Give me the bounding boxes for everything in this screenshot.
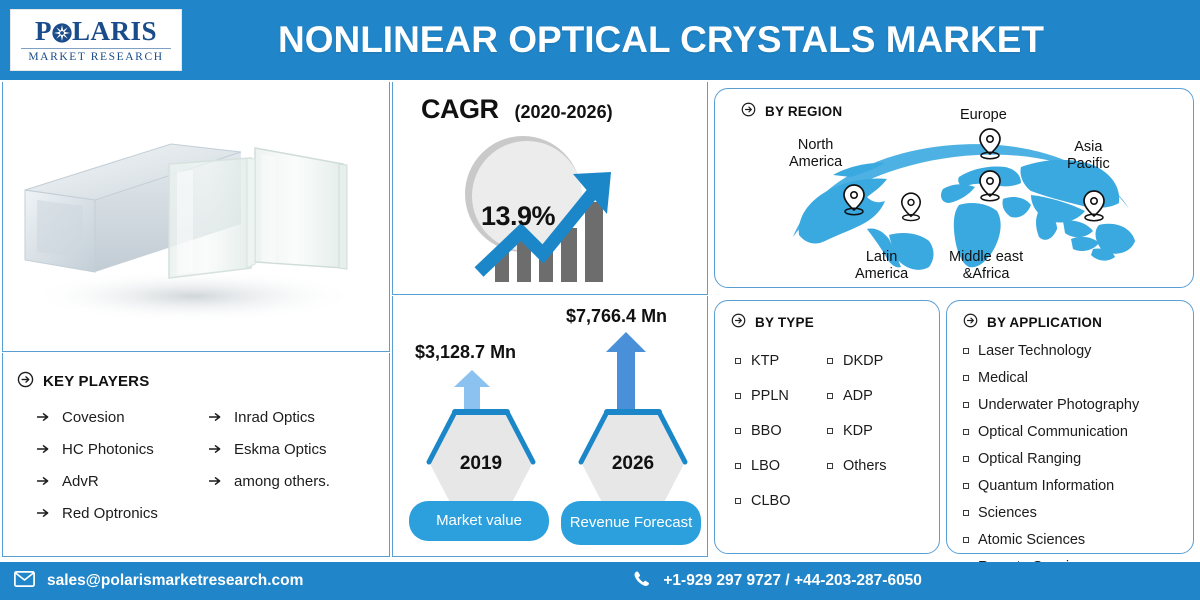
list-item-label: Inrad Optics bbox=[234, 409, 315, 426]
list-item-label: Sciences bbox=[978, 505, 1037, 521]
list-item-label: Optical Ranging bbox=[978, 451, 1081, 467]
list-item[interactable]: Underwater Photography bbox=[963, 391, 1191, 418]
by-application-heading: BY APPLICATION bbox=[963, 313, 1102, 331]
list-item[interactable]: PPLN bbox=[735, 378, 823, 413]
region-label-asia-pacific: Asia Pacific bbox=[1067, 139, 1110, 172]
region-label-line: America bbox=[789, 154, 842, 170]
square-bullet-icon bbox=[827, 358, 833, 364]
square-bullet-icon bbox=[963, 456, 969, 462]
list-item-label: LBO bbox=[751, 458, 780, 474]
region-label-line: Pacific bbox=[1067, 156, 1110, 172]
page-header: P bbox=[0, 0, 1200, 80]
by-application-panel: BY APPLICATION Laser Technology Medical … bbox=[946, 300, 1194, 554]
arrow-right-icon bbox=[209, 409, 222, 426]
list-item-label: Optical Communication bbox=[978, 424, 1128, 440]
circle-arrow-icon bbox=[17, 371, 34, 392]
cagr-heading: CAGR (2020-2026) bbox=[421, 94, 613, 125]
list-item[interactable]: CLBO bbox=[735, 483, 823, 518]
region-label-line: Middle east bbox=[949, 249, 1023, 265]
list-item-label: Medical bbox=[978, 370, 1028, 386]
list-item[interactable]: HC Photonics bbox=[37, 433, 197, 465]
list-item-label: Underwater Photography bbox=[978, 397, 1139, 413]
market-value-panel: $3,128.7 Mn $7,766.4 Mn 2019 bbox=[392, 296, 708, 557]
forecast-year-label: 2026 bbox=[577, 453, 689, 475]
list-item-label: KTP bbox=[751, 353, 779, 369]
list-item-label: AdvR bbox=[62, 473, 99, 490]
list-item-label: Eskma Optics bbox=[234, 441, 327, 458]
by-application-heading-label: BY APPLICATION bbox=[987, 315, 1102, 330]
crystal-illustration bbox=[3, 82, 389, 351]
map-pin-north-america[interactable] bbox=[841, 183, 867, 222]
region-label-line: North bbox=[798, 137, 833, 153]
region-label-line: Latin bbox=[866, 249, 897, 265]
square-bullet-icon bbox=[735, 393, 741, 399]
list-item-label: BBO bbox=[751, 423, 782, 439]
list-item-label: Laser Technology bbox=[978, 343, 1091, 359]
list-item-label: ADP bbox=[843, 388, 873, 404]
list-item[interactable]: DKDP bbox=[827, 343, 931, 378]
arrow-right-icon bbox=[37, 505, 50, 522]
map-pin-europe[interactable] bbox=[977, 127, 1003, 166]
arrow-right-icon bbox=[37, 409, 50, 426]
cagr-panel: CAGR (2020-2026) 13.9% bbox=[392, 82, 708, 295]
list-item-label: DKDP bbox=[843, 353, 883, 369]
list-item-label: CLBO bbox=[751, 493, 791, 509]
region-label-line: &Africa bbox=[963, 266, 1010, 282]
circle-arrow-icon bbox=[741, 102, 756, 120]
region-label-middle-east-africa: Middle east &Africa bbox=[949, 249, 1023, 282]
by-application-list: Laser Technology Medical Underwater Phot… bbox=[963, 337, 1191, 580]
base-year-label: 2019 bbox=[425, 453, 537, 475]
circle-arrow-icon bbox=[963, 313, 978, 331]
list-item[interactable]: Medical bbox=[963, 364, 1191, 391]
logo-tagline: MARKET RESEARCH bbox=[28, 51, 163, 63]
list-item-label: HC Photonics bbox=[62, 441, 154, 458]
region-label-europe: Europe bbox=[960, 107, 1007, 124]
logo-divider bbox=[21, 48, 171, 49]
map-pin-asia-pacific[interactable] bbox=[1081, 189, 1107, 228]
list-item[interactable]: Red Optronics bbox=[37, 497, 197, 529]
page-title: NONLINEAR OPTICAL CRYSTALS MARKET bbox=[182, 19, 1200, 61]
arrow-right-icon bbox=[209, 473, 222, 490]
list-item[interactable]: LBO bbox=[735, 448, 823, 483]
list-item[interactable]: Laser Technology bbox=[963, 337, 1191, 364]
key-players-heading: KEY PLAYERS bbox=[17, 371, 149, 392]
square-bullet-icon bbox=[963, 402, 969, 408]
by-type-heading: BY TYPE bbox=[731, 313, 814, 331]
list-item[interactable]: KDP bbox=[827, 413, 931, 448]
logo-wordmark: P bbox=[35, 18, 157, 45]
map-pin-middle-east-africa[interactable] bbox=[977, 169, 1003, 208]
list-item-label: PPLN bbox=[751, 388, 789, 404]
square-bullet-icon bbox=[963, 348, 969, 354]
region-label-line: America bbox=[855, 266, 908, 282]
footer-email[interactable]: sales@polarismarketresearch.com bbox=[14, 571, 303, 592]
arrow-right-icon bbox=[37, 441, 50, 458]
compass-star-icon bbox=[51, 22, 73, 44]
list-item[interactable]: KTP bbox=[735, 343, 823, 378]
footer-phone-label: +1-929 297 9727 / +44-203-287-6050 bbox=[663, 572, 922, 590]
arrow-right-icon bbox=[37, 473, 50, 490]
list-item-label: Red Optronics bbox=[62, 505, 158, 522]
key-players-heading-label: KEY PLAYERS bbox=[43, 373, 149, 390]
phone-icon bbox=[633, 570, 651, 593]
region-label-latin-america: Latin America bbox=[855, 249, 908, 282]
list-item[interactable]: Optical Communication bbox=[963, 418, 1191, 445]
mail-icon bbox=[14, 571, 35, 592]
list-item[interactable]: among others. bbox=[209, 465, 369, 497]
by-type-heading-label: BY TYPE bbox=[755, 315, 814, 330]
footer-phone[interactable]: +1-929 297 9727 / +44-203-287-6050 bbox=[633, 570, 922, 593]
list-item[interactable]: Optical Ranging bbox=[963, 445, 1191, 472]
list-item-label: Covesion bbox=[62, 409, 125, 426]
product-image-panel bbox=[2, 82, 390, 352]
list-item[interactable]: Eskma Optics bbox=[209, 433, 369, 465]
list-item-empty bbox=[209, 497, 369, 529]
market-value-pill[interactable]: Market value bbox=[409, 501, 549, 541]
arrow-right-icon bbox=[209, 441, 222, 458]
key-players-panel: KEY PLAYERS Covesion Inrad Optics HC Pho… bbox=[2, 353, 390, 557]
list-item[interactable]: BBO bbox=[735, 413, 823, 448]
cagr-value: 13.9% bbox=[481, 201, 555, 232]
list-item-label: among others. bbox=[234, 473, 330, 490]
list-item[interactable]: Atomic Sciences bbox=[963, 526, 1191, 553]
cagr-label: CAGR bbox=[421, 94, 499, 125]
square-bullet-icon bbox=[963, 537, 969, 543]
infographic-page: P bbox=[0, 0, 1200, 600]
region-label-line: Europe bbox=[960, 107, 1007, 123]
logo-text-laris: LARIS bbox=[72, 18, 157, 45]
footer-email-label: sales@polarismarketresearch.com bbox=[47, 572, 303, 590]
list-item[interactable]: Covesion bbox=[37, 401, 197, 433]
square-bullet-icon bbox=[735, 358, 741, 364]
list-item[interactable]: ADP bbox=[827, 378, 931, 413]
cagr-period: (2020-2026) bbox=[515, 102, 613, 123]
list-item[interactable]: Inrad Optics bbox=[209, 401, 369, 433]
list-item[interactable]: Quantum Information bbox=[963, 472, 1191, 499]
circle-arrow-icon bbox=[731, 313, 746, 331]
region-label-line: Asia bbox=[1074, 139, 1102, 155]
list-item[interactable]: AdvR bbox=[37, 465, 197, 497]
region-label-north-america: North America bbox=[789, 137, 842, 170]
square-bullet-icon bbox=[735, 463, 741, 469]
list-item[interactable]: Others bbox=[827, 448, 931, 483]
polaris-logo[interactable]: P bbox=[10, 9, 182, 71]
base-value-label: $3,128.7 Mn bbox=[415, 342, 516, 363]
list-item-label: KDP bbox=[843, 423, 873, 439]
by-type-list: KTP DKDP PPLN ADP BBO KDP LBO Others CLB… bbox=[735, 343, 931, 518]
list-item-empty bbox=[827, 483, 931, 518]
by-region-panel: BY REGION bbox=[714, 88, 1194, 288]
square-bullet-icon bbox=[827, 428, 833, 434]
list-item[interactable]: Sciences bbox=[963, 499, 1191, 526]
list-item-label: Atomic Sciences bbox=[978, 532, 1085, 548]
square-bullet-icon bbox=[963, 429, 969, 435]
square-bullet-icon bbox=[963, 510, 969, 516]
key-players-list: Covesion Inrad Optics HC Photonics Eskma… bbox=[37, 401, 382, 529]
square-bullet-icon bbox=[827, 393, 833, 399]
square-bullet-icon bbox=[963, 375, 969, 381]
square-bullet-icon bbox=[827, 463, 833, 469]
forecast-value-label: $7,766.4 Mn bbox=[566, 306, 667, 327]
square-bullet-icon bbox=[735, 428, 741, 434]
list-item-label: Others bbox=[843, 458, 887, 474]
by-type-panel: BY TYPE KTP DKDP PPLN ADP BBO KDP LBO Ot… bbox=[714, 300, 940, 554]
map-pin-latin-america[interactable] bbox=[899, 191, 923, 228]
page-footer: sales@polarismarketresearch.com +1-929 2… bbox=[0, 562, 1200, 600]
logo-text-p: P bbox=[35, 18, 52, 45]
list-item-label: Quantum Information bbox=[978, 478, 1114, 494]
square-bullet-icon bbox=[963, 483, 969, 489]
revenue-forecast-pill[interactable]: Revenue Forecast bbox=[561, 501, 701, 545]
square-bullet-icon bbox=[735, 498, 741, 504]
